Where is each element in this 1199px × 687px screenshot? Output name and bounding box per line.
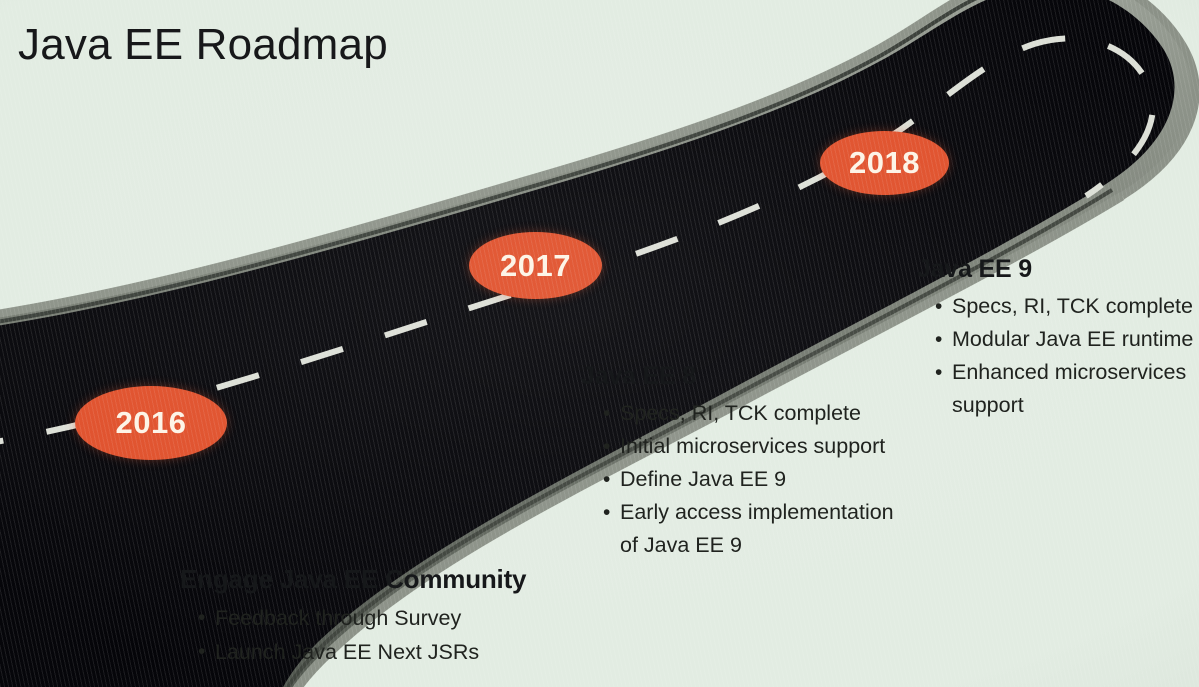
list-item-text: Enhanced microservices	[952, 360, 1186, 384]
list-item: • Define Java EE 9	[601, 463, 894, 496]
bullet-icon: •	[198, 601, 205, 634]
list-item: • Specs, RI, TCK complete	[601, 397, 894, 430]
milestone-label: 2016	[116, 405, 187, 441]
list-item: • Initial microservices support	[601, 430, 894, 463]
list-item-text: Modular Java EE runtime	[952, 327, 1193, 351]
java-ee-9-bullet-list: • Specs, RI, TCK complete • Modular Java…	[933, 290, 1193, 422]
bullet-icon: •	[603, 463, 610, 496]
roadmap-slide: Java EE Roadmap 2016 2017 2018 Java EE 8…	[0, 0, 1199, 687]
list-item-text: Specs, RI, TCK complete	[620, 401, 861, 425]
bullet-icon: •	[198, 635, 205, 668]
bullet-icon: •	[603, 397, 610, 430]
list-item-text: Launch Java EE Next JSRs	[215, 640, 479, 664]
java-ee-8-bullet-list: • Specs, RI, TCK complete • Initial micr…	[601, 397, 894, 562]
java-ee-9-block: Java EE 9 • Specs, RI, TCK complete • Mo…	[917, 255, 1193, 422]
list-item-text-continued: support	[952, 389, 1193, 422]
engage-community-block: Engage Java EE Community • Feedback thro…	[180, 564, 526, 669]
list-item-text: Feedback through Survey	[215, 606, 461, 630]
milestone-marker-2018[interactable]: 2018	[820, 131, 949, 195]
list-item: • Early access implementation of Java EE…	[601, 496, 894, 562]
page-title: Java EE Roadmap	[18, 20, 388, 70]
list-item: • Enhanced microservices support	[933, 356, 1193, 422]
bullet-icon: •	[935, 323, 942, 356]
java-ee-8-heading: Java EE 8	[581, 362, 894, 391]
milestone-label: 2017	[500, 248, 571, 284]
list-item-text: Initial microservices support	[620, 434, 885, 458]
milestone-marker-2017[interactable]: 2017	[469, 232, 602, 299]
engage-community-bullet-list: • Feedback through Survey • Launch Java …	[196, 601, 526, 669]
list-item: • Specs, RI, TCK complete	[933, 290, 1193, 323]
java-ee-8-block: Java EE 8 • Specs, RI, TCK complete • In…	[581, 362, 894, 562]
list-item-text-continued: of Java EE 9	[620, 529, 894, 562]
list-item-text: Early access implementation	[620, 500, 894, 524]
list-item-text: Specs, RI, TCK complete	[952, 294, 1193, 318]
engage-community-heading: Engage Java EE Community	[180, 564, 526, 595]
bullet-icon: •	[603, 430, 610, 463]
list-item: • Modular Java EE runtime	[933, 323, 1193, 356]
list-item: • Launch Java EE Next JSRs	[196, 635, 526, 669]
list-item-text: Define Java EE 9	[620, 467, 786, 491]
java-ee-9-heading: Java EE 9	[917, 255, 1193, 284]
bullet-icon: •	[603, 496, 610, 529]
list-item: • Feedback through Survey	[196, 601, 526, 635]
milestone-label: 2018	[849, 145, 920, 181]
bullet-icon: •	[935, 356, 942, 389]
milestone-marker-2016[interactable]: 2016	[75, 386, 227, 460]
bullet-icon: •	[935, 290, 942, 323]
